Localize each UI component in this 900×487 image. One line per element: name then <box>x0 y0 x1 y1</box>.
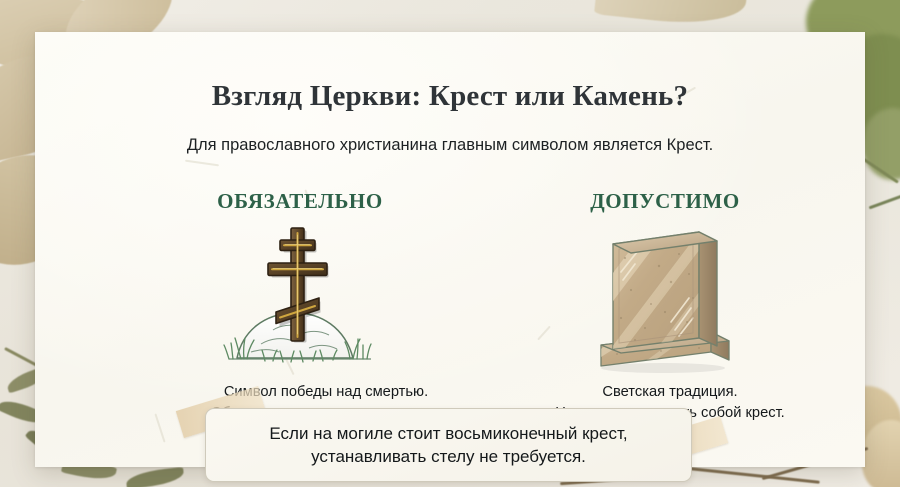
caption-line: Светская традиция. <box>505 382 835 403</box>
page-title: Взгляд Церкви: Крест или Камень? <box>35 80 865 113</box>
granite-stele-monument-icon <box>587 218 757 373</box>
callout-line: Если на могиле стоит восьмиконечный крес… <box>269 422 627 445</box>
paper-fiber <box>185 160 219 167</box>
column-heading-required: ОБЯЗАТЕЛЬНО <box>150 189 450 214</box>
orthodox-cross-on-grave-mound-icon <box>221 218 381 373</box>
page-subtitle: Для православного христианина главным си… <box>35 136 865 155</box>
column-heading-permitted: ДОПУСТИМО <box>515 189 815 214</box>
paper-fiber <box>537 326 551 341</box>
callout-text: Если на могиле стоит восьмиконечный крес… <box>255 422 641 469</box>
callout-line: устанавливать стелу не требуется. <box>269 445 627 468</box>
content-card: Взгляд Церкви: Крест или Камень? Для пра… <box>35 32 865 467</box>
summary-callout-box: Если на могиле стоит восьмиконечный крес… <box>205 408 692 482</box>
